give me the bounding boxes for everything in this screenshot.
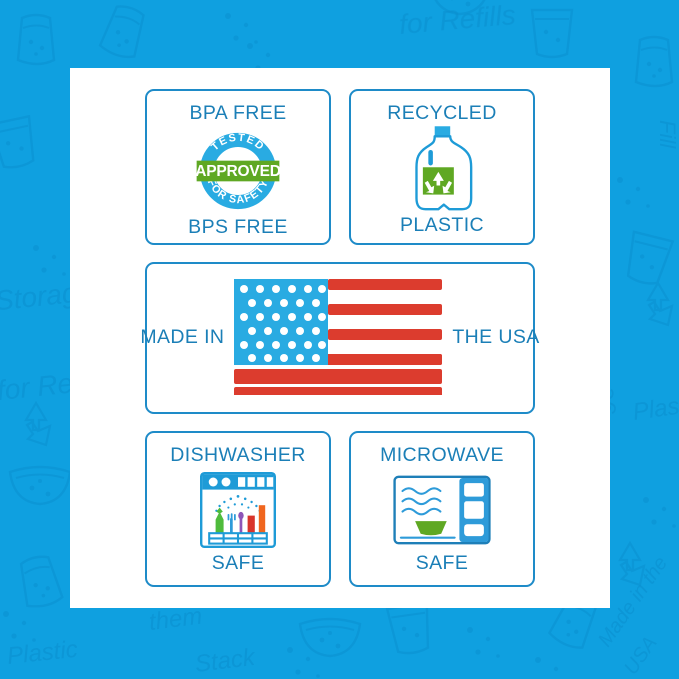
badge-row-middle: MADE IN xyxy=(145,262,535,414)
panel-recycled-plastic[interactable]: RECYCLED PLASTIC xyxy=(349,89,535,245)
panel-dishwasher-safe[interactable]: DISHWASHER xyxy=(145,431,331,587)
panel-microwave-safe-top-label: MICROWAVE xyxy=(380,446,504,466)
microwave-icon xyxy=(393,466,491,554)
panel-made-in-usa-right-label: THE USA xyxy=(452,328,539,348)
badge-card: BPA FREE TESTED FOR SAFETY APPROVED xyxy=(70,68,610,608)
badge-center-text: APPROVED xyxy=(195,163,281,180)
badge-row-bottom: DISHWASHER xyxy=(145,431,535,587)
badge-bottom-text: FOR SAFETY xyxy=(205,177,272,206)
panel-made-in-usa[interactable]: MADE IN xyxy=(145,262,535,414)
panel-bpa-free[interactable]: BPA FREE TESTED FOR SAFETY APPROVED xyxy=(145,89,331,245)
panel-recycled-plastic-bottom-label: PLASTIC xyxy=(400,216,484,236)
panel-dishwasher-safe-bottom-label: SAFE xyxy=(212,554,265,574)
panel-microwave-safe-bottom-label: SAFE xyxy=(416,554,469,574)
panel-dishwasher-safe-top-label: DISHWASHER xyxy=(170,446,305,466)
svg-text:Fill: Fill xyxy=(655,120,679,149)
approved-badge-icon: TESTED FOR SAFETY APPROVED xyxy=(191,124,285,218)
badge-row-top: BPA FREE TESTED FOR SAFETY APPROVED xyxy=(145,89,535,245)
panel-microwave-safe[interactable]: MICROWAVE xyxy=(349,431,535,587)
panel-bpa-free-bottom-label: BPS FREE xyxy=(188,218,288,238)
panel-bpa-free-top-label: BPA FREE xyxy=(189,104,286,124)
recycled-jug-icon xyxy=(401,124,483,216)
usa-flag-icon xyxy=(232,277,444,400)
panel-recycled-plastic-top-label: RECYCLED xyxy=(387,104,496,124)
dishwasher-icon xyxy=(198,466,278,554)
svg-text:FOR SAFETY: FOR SAFETY xyxy=(205,177,272,206)
panel-made-in-usa-left-label: MADE IN xyxy=(140,328,224,348)
